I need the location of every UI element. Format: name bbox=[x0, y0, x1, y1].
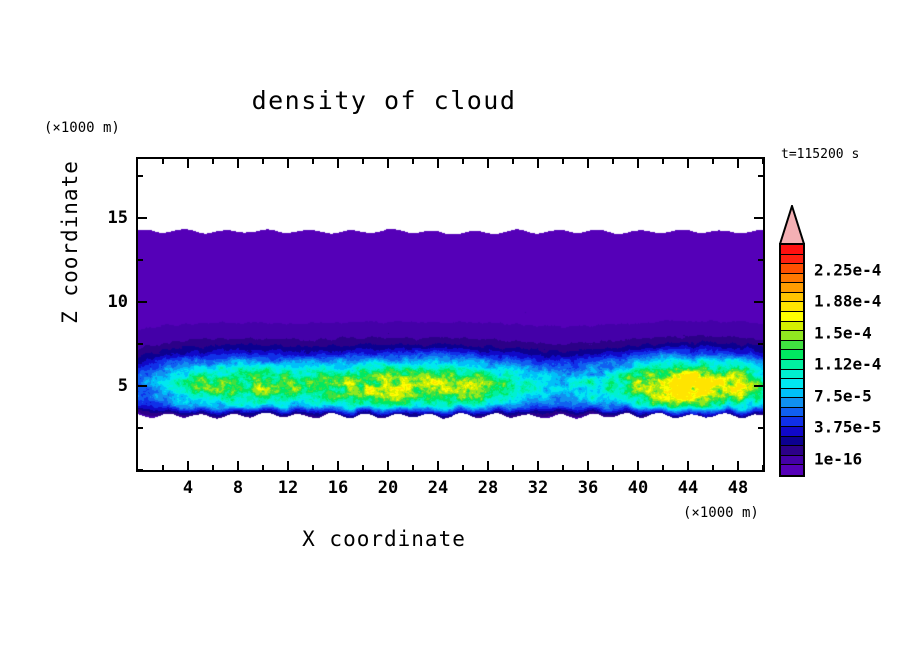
x-tick-major-top bbox=[487, 159, 489, 168]
y-tick-label: 10 bbox=[102, 292, 128, 312]
x-tick-minor bbox=[612, 465, 614, 470]
x-tick-major-top bbox=[337, 159, 339, 168]
x-tick-major-top bbox=[537, 159, 539, 168]
colorbar-label: 7.5e-5 bbox=[814, 386, 872, 405]
y-tick-major bbox=[138, 385, 147, 387]
y-tick-minor-right bbox=[758, 175, 763, 177]
x-tick-minor-top bbox=[462, 159, 464, 164]
x-tick-minor bbox=[312, 465, 314, 470]
colorbar-label: 1.12e-4 bbox=[814, 355, 881, 374]
colorbar-band bbox=[781, 293, 803, 303]
colorbar-band bbox=[781, 417, 803, 427]
colorbar-band bbox=[781, 389, 803, 399]
y-tick-label: 5 bbox=[102, 376, 128, 396]
x-tick-label: 16 bbox=[328, 478, 348, 498]
x-tick-minor-top bbox=[762, 159, 764, 164]
x-tick-label: 40 bbox=[628, 478, 648, 498]
y-tick-major-right bbox=[754, 217, 763, 219]
x-tick-major-top bbox=[587, 159, 589, 168]
x-tick-major bbox=[287, 461, 289, 470]
colorbar-band bbox=[781, 331, 803, 341]
y-tick-minor bbox=[138, 469, 143, 471]
x-tick-major-top bbox=[187, 159, 189, 168]
plot-area bbox=[136, 157, 765, 472]
colorbar-band bbox=[781, 255, 803, 265]
y-tick-minor-right bbox=[758, 427, 763, 429]
colorbar-label: 1.5e-4 bbox=[814, 323, 872, 342]
colorbar-band bbox=[781, 312, 803, 322]
x-tick-minor bbox=[212, 465, 214, 470]
x-tick-label: 4 bbox=[183, 478, 193, 498]
x-tick-minor bbox=[262, 465, 264, 470]
colorbar-band bbox=[781, 245, 803, 255]
x-tick-major bbox=[687, 461, 689, 470]
x-tick-major bbox=[487, 461, 489, 470]
x-tick-label: 32 bbox=[528, 478, 548, 498]
y-axis-title: Z coordinate bbox=[58, 152, 82, 332]
x-tick-minor-top bbox=[612, 159, 614, 164]
y-axis-unit-label: (×1000 m) bbox=[44, 120, 120, 136]
x-tick-major bbox=[387, 461, 389, 470]
x-tick-minor-top bbox=[712, 159, 714, 164]
y-tick-major bbox=[138, 301, 147, 303]
x-tick-major-top bbox=[737, 159, 739, 168]
x-tick-major bbox=[737, 461, 739, 470]
x-tick-major bbox=[237, 461, 239, 470]
x-tick-minor bbox=[712, 465, 714, 470]
x-tick-label: 36 bbox=[578, 478, 598, 498]
x-tick-label: 48 bbox=[728, 478, 748, 498]
x-tick-minor-top bbox=[312, 159, 314, 164]
colorbar-band bbox=[781, 465, 803, 475]
x-tick-major-top bbox=[237, 159, 239, 168]
colorbar-band bbox=[781, 437, 803, 447]
colorbar-band bbox=[781, 274, 803, 284]
colorbar-band bbox=[781, 360, 803, 370]
colorbar-arrow-icon bbox=[779, 205, 805, 245]
x-tick-major-top bbox=[637, 159, 639, 168]
colorbar-label: 1.88e-4 bbox=[814, 292, 881, 311]
y-tick-minor bbox=[138, 259, 143, 261]
colorbar-band bbox=[781, 350, 803, 360]
colorbar-band bbox=[781, 264, 803, 274]
colorbar bbox=[779, 243, 805, 477]
colorbar-band bbox=[781, 322, 803, 332]
x-axis-unit-label: (×1000 m) bbox=[683, 505, 759, 521]
colorbar-band bbox=[781, 302, 803, 312]
x-tick-major-top bbox=[437, 159, 439, 168]
x-tick-label: 28 bbox=[478, 478, 498, 498]
x-tick-major bbox=[437, 461, 439, 470]
colorbar-band bbox=[781, 370, 803, 380]
colorbar-band bbox=[781, 398, 803, 408]
colorbar-band bbox=[781, 446, 803, 456]
colorbar-label: 2.25e-4 bbox=[814, 260, 881, 279]
timestamp-label: t=115200 s bbox=[781, 147, 859, 162]
y-tick-minor bbox=[138, 343, 143, 345]
y-tick-major bbox=[138, 217, 147, 219]
colorbar-band bbox=[781, 456, 803, 466]
x-tick-minor bbox=[162, 465, 164, 470]
density-field-canvas bbox=[138, 159, 763, 470]
x-tick-minor bbox=[662, 465, 664, 470]
x-tick-minor bbox=[562, 465, 564, 470]
colorbar-label: 1e-16 bbox=[814, 449, 862, 468]
x-tick-major-top bbox=[287, 159, 289, 168]
x-tick-major bbox=[637, 461, 639, 470]
x-tick-minor-top bbox=[512, 159, 514, 164]
page-title: density of cloud bbox=[0, 86, 768, 115]
contour-plot-figure: density of cloud (×1000 m) (×1000 m) t=1… bbox=[0, 0, 904, 654]
colorbar-band bbox=[781, 341, 803, 351]
x-tick-label: 24 bbox=[428, 478, 448, 498]
x-tick-minor bbox=[412, 465, 414, 470]
y-tick-major-right bbox=[754, 385, 763, 387]
y-tick-minor-right bbox=[758, 259, 763, 261]
colorbar-band bbox=[781, 283, 803, 293]
x-tick-minor-top bbox=[662, 159, 664, 164]
x-tick-major bbox=[587, 461, 589, 470]
x-tick-major bbox=[337, 461, 339, 470]
x-tick-minor bbox=[462, 465, 464, 470]
y-tick-major-right bbox=[754, 301, 763, 303]
y-tick-minor bbox=[138, 427, 143, 429]
x-tick-major-top bbox=[387, 159, 389, 168]
x-tick-major bbox=[187, 461, 189, 470]
colorbar-label: 3.75e-5 bbox=[814, 418, 881, 437]
x-tick-label: 44 bbox=[678, 478, 698, 498]
colorbar-band bbox=[781, 379, 803, 389]
x-tick-minor-top bbox=[412, 159, 414, 164]
x-tick-minor bbox=[362, 465, 364, 470]
x-tick-label: 20 bbox=[378, 478, 398, 498]
x-tick-label: 12 bbox=[278, 478, 298, 498]
x-tick-major bbox=[537, 461, 539, 470]
colorbar-band bbox=[781, 408, 803, 418]
x-tick-minor-top bbox=[262, 159, 264, 164]
x-tick-minor-top bbox=[562, 159, 564, 164]
x-tick-minor bbox=[762, 465, 764, 470]
x-axis-title: X coordinate bbox=[0, 527, 768, 551]
x-tick-label: 8 bbox=[233, 478, 243, 498]
colorbar-band bbox=[781, 427, 803, 437]
x-tick-minor-top bbox=[362, 159, 364, 164]
x-tick-minor-top bbox=[212, 159, 214, 164]
y-tick-minor-right bbox=[758, 343, 763, 345]
y-tick-label: 15 bbox=[102, 208, 128, 228]
x-tick-major-top bbox=[687, 159, 689, 168]
x-tick-minor bbox=[512, 465, 514, 470]
y-tick-minor bbox=[138, 175, 143, 177]
x-tick-minor-top bbox=[162, 159, 164, 164]
